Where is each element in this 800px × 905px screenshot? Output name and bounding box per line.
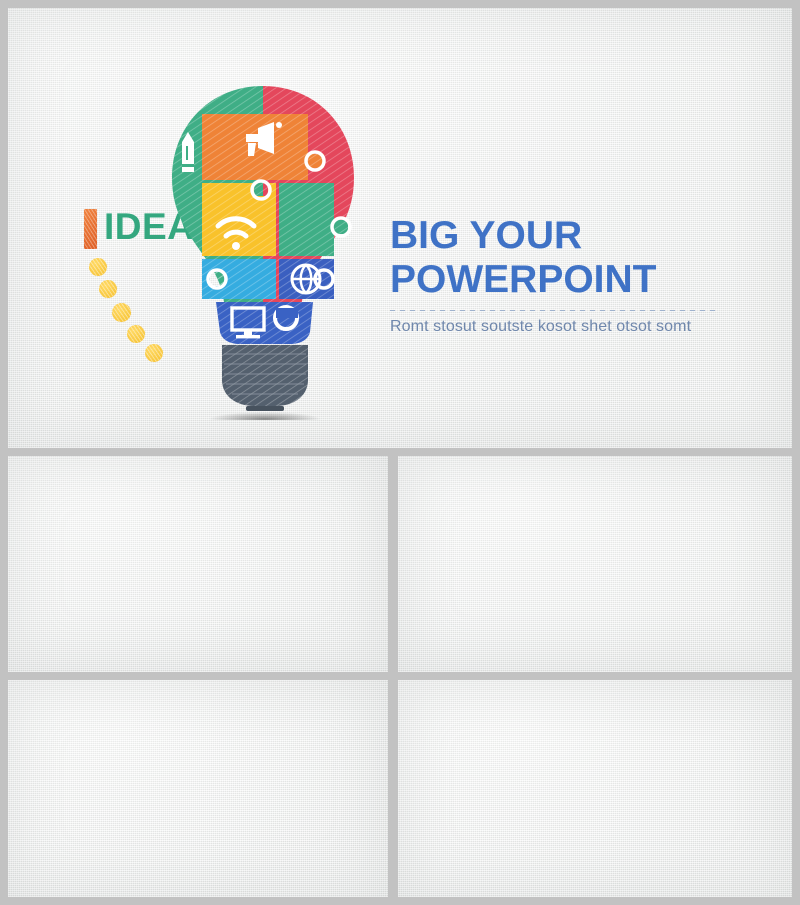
slide-title[interactable]: IDEA <box>8 8 792 448</box>
decor-dot <box>89 258 107 276</box>
slide-section-divider[interactable]: PART 01 BIG YOUR POWERPOINT Romt stosut … <box>398 456 792 672</box>
hero-title-block: BIG YOUR POWERPOINT Romt stosut soutste … <box>390 214 720 336</box>
slide-ribbon-content[interactable]: BIG YOUR POWERPOINT Romt stosut soutste … <box>398 680 792 897</box>
page-title-line1: BIG YOUR <box>390 214 720 258</box>
decor-dot <box>112 303 131 322</box>
slide-image-content[interactable]: BIG YOUR POWERPOINT Romt stosut soutste … <box>8 680 388 897</box>
lightbulb-puzzle-icon <box>158 80 368 420</box>
slide-contents[interactable]: CONT ENTS BIG YOUR POWERPOINT <box>8 456 388 672</box>
page-title-line2: POWERPOINT <box>390 258 720 302</box>
title-divider <box>390 310 720 311</box>
hero-subtitle: Romt stosut soutste kosot shet otsot som… <box>390 318 720 336</box>
idea-accent-bar <box>84 209 97 249</box>
decor-dot <box>127 325 145 343</box>
decor-dot <box>99 280 117 298</box>
slide-deck-preview: IDEA <box>0 0 800 905</box>
